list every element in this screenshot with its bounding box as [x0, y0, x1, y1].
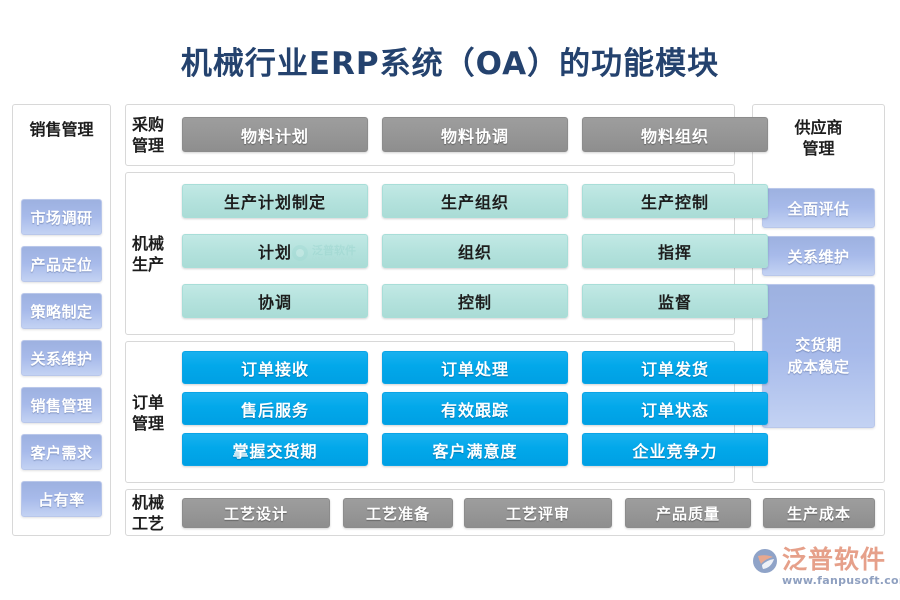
supplier-column-title-line1: 供应商 [753, 117, 884, 138]
fanpu-logo-icon [752, 548, 778, 574]
purchase-label-line2: 管理 [132, 135, 178, 156]
brand-logo: 泛普软件 www.fanpusoft.com [752, 546, 892, 592]
sidebar-item-relationship-maintenance[interactable]: 关系维护 [21, 340, 102, 376]
tile-command[interactable]: 指挥 [582, 234, 768, 268]
order-section-label: 订单 管理 [132, 392, 178, 434]
tile-production-organization[interactable]: 生产组织 [382, 184, 568, 218]
tile-material-coordination[interactable]: 物料协调 [382, 117, 568, 152]
supplier-item-full-evaluation[interactable]: 全面评估 [762, 188, 875, 228]
tile-coordinate[interactable]: 协调 [182, 284, 368, 318]
tile-product-quality[interactable]: 产品质量 [625, 498, 751, 528]
order-label-line2: 管理 [132, 413, 178, 434]
mechanical-craft-panel: 机械 工艺 工艺设计 工艺准备 工艺评审 产品质量 生产成本 [125, 489, 885, 536]
tile-effective-tracking[interactable]: 有效跟踪 [382, 392, 568, 425]
tile-production-cost[interactable]: 生产成本 [763, 498, 875, 528]
tile-customer-satisfaction[interactable]: 客户满意度 [382, 433, 568, 466]
production-section-label: 机械 生产 [132, 233, 178, 275]
tile-process-review[interactable]: 工艺评审 [464, 498, 612, 528]
tile-material-plan[interactable]: 物料计划 [182, 117, 368, 152]
order-label-line1: 订单 [132, 392, 178, 413]
sidebar-item-strategy-making[interactable]: 策略制定 [21, 293, 102, 329]
supplier-item-delivery-cost-stability[interactable]: 交货期 成本稳定 [762, 284, 875, 428]
sidebar-item-customer-demand[interactable]: 客户需求 [21, 434, 102, 470]
craft-label-line1: 机械 [132, 492, 178, 513]
supplier-column-title: 供应商 管理 [753, 117, 884, 159]
supplier-management-panel: 供应商 管理 全面评估 关系维护 交货期 成本稳定 [752, 104, 885, 483]
tile-control[interactable]: 控制 [382, 284, 568, 318]
tile-supervise[interactable]: 监督 [582, 284, 768, 318]
tile-order-processing[interactable]: 订单处理 [382, 351, 568, 384]
supplier-column-title-line2: 管理 [753, 138, 884, 159]
mechanical-production-panel: 机械 生产 生产计划制定 生产组织 生产控制 计划 组织 指挥 协调 控制 监督 [125, 172, 735, 335]
sidebar-item-market-share[interactable]: 占有率 [21, 481, 102, 517]
craft-label-line2: 工艺 [132, 513, 178, 534]
tile-organize[interactable]: 组织 [382, 234, 568, 268]
tile-process-preparation[interactable]: 工艺准备 [343, 498, 453, 528]
tile-order-receive[interactable]: 订单接收 [182, 351, 368, 384]
sidebar-item-market-research[interactable]: 市场调研 [21, 199, 102, 235]
order-management-panel: 订单 管理 订单接收 订单处理 订单发货 售后服务 有效跟踪 订单状态 掌握交货… [125, 341, 735, 483]
page-title: 机械行业ERP系统（OA）的功能模块 [0, 38, 900, 83]
tile-production-control[interactable]: 生产控制 [582, 184, 768, 218]
tile-order-shipping[interactable]: 订单发货 [582, 351, 768, 384]
tile-order-status[interactable]: 订单状态 [582, 392, 768, 425]
supplier-item-relationship-maintenance[interactable]: 关系维护 [762, 236, 875, 276]
tile-grasp-delivery-date[interactable]: 掌握交货期 [182, 433, 368, 466]
craft-section-label: 机械 工艺 [132, 492, 178, 534]
production-label-line2: 生产 [132, 254, 178, 275]
sidebar-item-product-positioning[interactable]: 产品定位 [21, 246, 102, 282]
purchase-management-panel: 采购 管理 物料计划 物料协调 物料组织 [125, 104, 735, 166]
supplier-big-line1: 交货期 [795, 334, 842, 356]
tile-after-sales-service[interactable]: 售后服务 [182, 392, 368, 425]
sales-management-panel: 销售管理 市场调研 产品定位 策略制定 关系维护 销售管理 客户需求 占有率 [12, 104, 111, 536]
tile-material-organization[interactable]: 物料组织 [582, 117, 768, 152]
tile-process-design[interactable]: 工艺设计 [182, 498, 330, 528]
purchase-label-line1: 采购 [132, 114, 178, 135]
purchase-section-label: 采购 管理 [132, 114, 178, 156]
production-label-line1: 机械 [132, 233, 178, 254]
sales-column-title: 销售管理 [13, 119, 110, 140]
tile-plan[interactable]: 计划 [182, 234, 368, 268]
brand-name: 泛普软件 [782, 546, 886, 574]
sidebar-item-sales-management[interactable]: 销售管理 [21, 387, 102, 423]
supplier-big-line2: 成本稳定 [787, 356, 849, 378]
tile-enterprise-competitiveness[interactable]: 企业竞争力 [582, 433, 768, 466]
brand-url: www.fanpusoft.com [782, 574, 900, 587]
tile-production-plan-making[interactable]: 生产计划制定 [182, 184, 368, 218]
